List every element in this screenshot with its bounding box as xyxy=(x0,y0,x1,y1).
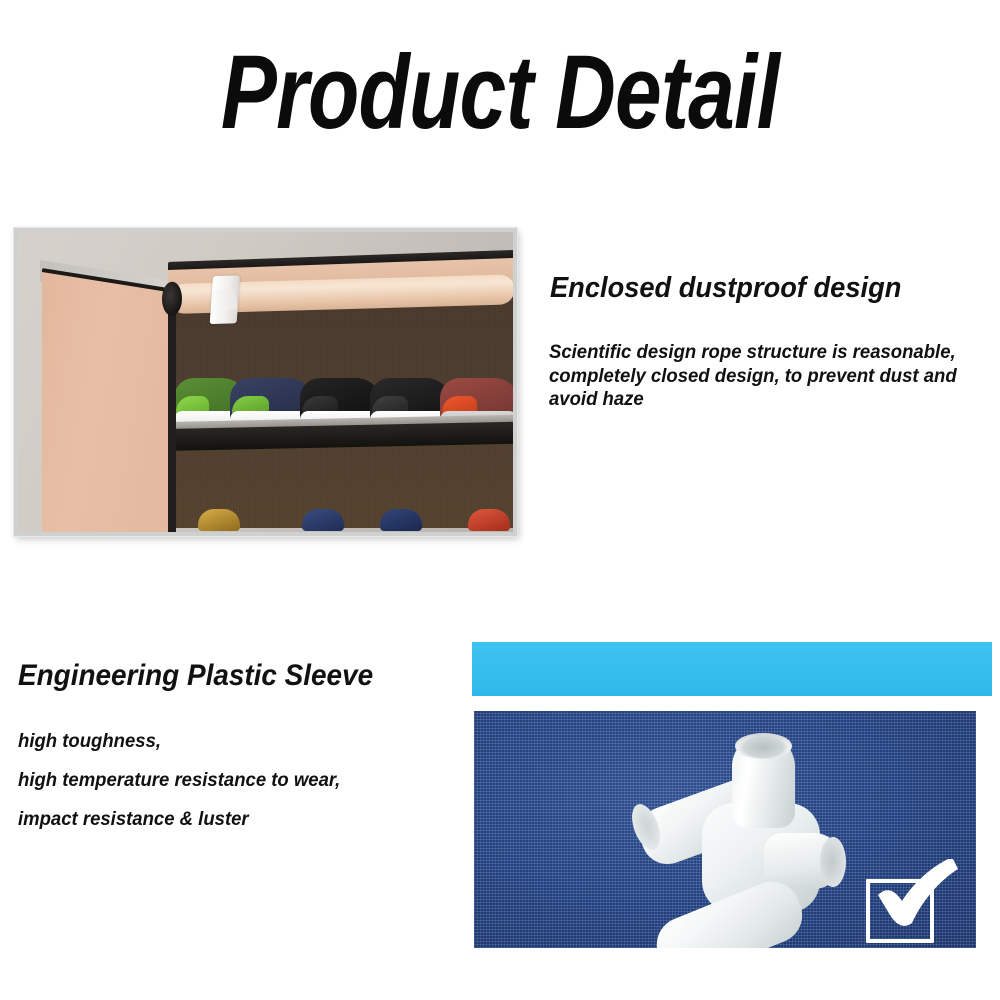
shoe xyxy=(302,509,344,531)
shoe xyxy=(468,509,510,531)
body-line: high temperature resistance to wear, xyxy=(18,761,427,800)
product-detail-page: Product Detail xyxy=(0,0,1000,1000)
body-line: high toughness, xyxy=(18,722,427,761)
shoe-row-bottom xyxy=(174,507,513,531)
shoe xyxy=(198,509,240,531)
body-line: impact resistance & luster xyxy=(18,800,427,839)
connector-socket-vertical xyxy=(735,733,792,759)
velcro-strap xyxy=(210,275,240,324)
page-title: Product Detail xyxy=(100,38,900,148)
section-heading-dustproof: Enclosed dustproof design xyxy=(550,271,964,305)
section-body-dustproof: Scientific design rope structure is reas… xyxy=(549,341,978,412)
section-body-plastic-sleeve: high toughness, high temperature resista… xyxy=(18,722,427,839)
plastic-sleeve-image xyxy=(474,711,976,948)
rack-side-panel xyxy=(42,272,172,532)
shoe-rack-photo xyxy=(14,228,517,536)
plastic-sleeve-photo xyxy=(458,628,992,948)
check-mark-icon xyxy=(872,859,958,933)
shoe-rack-photo-inner xyxy=(18,232,513,532)
connector-socket-right xyxy=(820,837,846,887)
photo-banner-strip xyxy=(472,642,992,696)
section-heading-plastic-sleeve: Engineering Plastic Sleeve xyxy=(18,658,418,694)
shoe xyxy=(380,509,422,531)
